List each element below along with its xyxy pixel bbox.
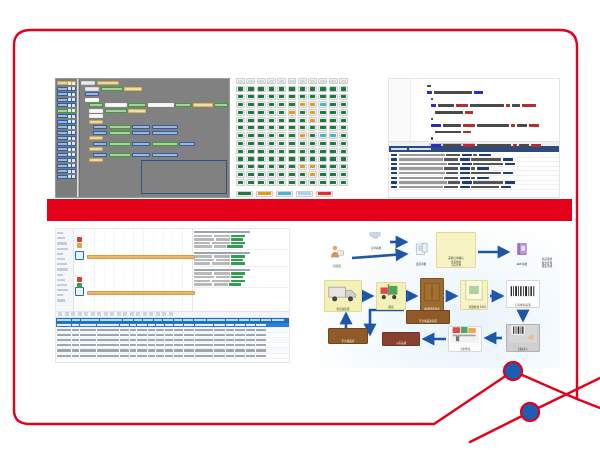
canvas-block-0-0[interactable] — [81, 81, 95, 85]
canvas-block-6-0[interactable] — [89, 114, 103, 118]
column-header-11[interactable] — [194, 319, 206, 321]
code-line-1[interactable] — [415, 91, 555, 95]
canvas-block-4-0[interactable] — [89, 103, 103, 107]
status-cell-r9-c4[interactable] — [277, 148, 286, 154]
flow-node-storage-complete[interactable]: 入库完成 — [382, 332, 420, 346]
status-cell-r11-c6[interactable] — [298, 164, 307, 170]
status-cell-r6-c2[interactable] — [257, 125, 266, 131]
toolbar-icon-17[interactable] — [169, 312, 173, 316]
status-cell-r10-c0[interactable] — [236, 156, 245, 162]
canvas-block-10-0[interactable] — [89, 136, 103, 140]
gantt-milestone-node-1[interactable] — [75, 287, 84, 296]
status-cell-r7-c10[interactable] — [339, 132, 348, 138]
canvas-block-7-0[interactable] — [89, 120, 103, 124]
status-cell-r13-c1[interactable] — [246, 179, 255, 185]
toolbar-icon-15[interactable] — [156, 312, 160, 316]
gantt-table-panel[interactable] — [55, 228, 290, 363]
palette-block-4[interactable] — [57, 103, 76, 107]
palette-block-17[interactable] — [57, 175, 76, 179]
canvas-block-3-0[interactable] — [85, 98, 99, 102]
palette-block-10[interactable] — [57, 136, 76, 140]
status-cell-r4-c4[interactable] — [277, 109, 286, 115]
status-cell-r10-c1[interactable] — [246, 156, 255, 162]
flow-node-notice-panel[interactable]: 采购订单确认 送货预约 入库计划 — [436, 232, 476, 268]
palette-block-8[interactable] — [57, 125, 76, 129]
status-cell-r5-c5[interactable] — [288, 117, 297, 123]
status-cell-r3-c9[interactable] — [329, 101, 338, 107]
status-cell-r8-c3[interactable] — [267, 140, 276, 146]
canvas-block-row-12[interactable] — [89, 147, 228, 151]
status-cell-r11-c2[interactable] — [257, 164, 266, 170]
flow-node-erp-links[interactable]: 库存更新 账务处理 报表生成 — [536, 240, 558, 268]
status-cell-r0-c7[interactable] — [308, 78, 317, 84]
toolbar-icon-2[interactable] — [71, 312, 75, 316]
gantt-row-labels[interactable] — [56, 229, 74, 311]
canvas-block-4-3[interactable] — [148, 103, 174, 107]
canvas-block-11-2[interactable] — [132, 142, 150, 146]
status-cell-r13-c3[interactable] — [267, 179, 276, 185]
canvas-block-11-0[interactable] — [93, 142, 107, 146]
status-cell-r9-c0[interactable] — [236, 148, 245, 154]
status-cell-r3-c1[interactable] — [246, 101, 255, 107]
status-cell-r0-c5[interactable] — [288, 78, 297, 84]
palette-block-3[interactable] — [57, 98, 76, 102]
status-cell-r6-c10[interactable] — [339, 125, 348, 131]
canvas-block-8-3[interactable] — [152, 125, 178, 129]
status-cell-r7-c6[interactable] — [298, 132, 307, 138]
palette-block-5[interactable] — [57, 109, 76, 113]
status-cell-r8-c9[interactable] — [329, 140, 338, 146]
status-cell-r10-c6[interactable] — [298, 156, 307, 162]
code-line-8[interactable] — [415, 137, 555, 141]
status-grid-panel[interactable] — [236, 78, 348, 198]
status-cell-r9-c6[interactable] — [298, 148, 307, 154]
status-cell-r5-c7[interactable] — [308, 117, 317, 123]
status-cell-r9-c10[interactable] — [339, 148, 348, 154]
status-cell-r3-c6[interactable] — [298, 101, 307, 107]
status-cell-r7-c9[interactable] — [329, 132, 338, 138]
flow-node-order-system[interactable]: 订单系统 — [364, 232, 388, 250]
status-cell-r3-c3[interactable] — [267, 101, 276, 107]
status-cell-r12-c5[interactable] — [288, 171, 297, 177]
palette-block-1[interactable] — [57, 87, 76, 91]
canvas-block-5-2[interactable] — [128, 109, 146, 113]
status-cell-r8-c0[interactable] — [236, 140, 245, 146]
status-cell-r5-c2[interactable] — [257, 117, 266, 123]
status-cell-r3-c2[interactable] — [257, 101, 266, 107]
column-header-3[interactable] — [100, 319, 122, 321]
status-cell-r7-c7[interactable] — [308, 132, 317, 138]
data-grid[interactable] — [56, 311, 289, 363]
status-cell-r0-c9[interactable] — [329, 78, 338, 84]
code-lines[interactable] — [415, 84, 555, 147]
canvas-block-13-1[interactable] — [109, 153, 131, 157]
canvas-block-row-5[interactable] — [89, 109, 228, 113]
status-cell-r9-c7[interactable] — [308, 148, 317, 154]
column-header-6[interactable] — [143, 319, 153, 321]
canvas-block-8-0[interactable] — [93, 125, 107, 129]
column-header-10[interactable] — [183, 319, 193, 321]
canvas-block-11-1[interactable] — [109, 142, 131, 146]
status-grid[interactable] — [236, 78, 348, 186]
status-cell-r5-c4[interactable] — [277, 117, 286, 123]
canvas-block-9-3[interactable] — [152, 131, 178, 135]
status-cell-r3-c5[interactable] — [288, 101, 297, 107]
flow-node-putaway[interactable]: 上架作业 — [448, 326, 482, 352]
toolbar-icon-1[interactable] — [65, 312, 69, 316]
status-cell-r8-c4[interactable] — [277, 140, 286, 146]
palette-block-11[interactable] — [57, 142, 76, 146]
flow-node-scan-in[interactable]: 扫描录入 — [506, 324, 540, 352]
status-cell-r6-c8[interactable] — [318, 125, 327, 131]
status-cell-r10-c7[interactable] — [308, 156, 317, 162]
status-cell-r2-c9[interactable] — [329, 94, 338, 100]
status-cell-r2-c6[interactable] — [298, 94, 307, 100]
palette-block-16[interactable] — [57, 169, 76, 173]
canvas-block-13-0[interactable] — [93, 153, 107, 157]
toolbar-icon-11[interactable] — [130, 312, 134, 316]
status-cell-r6-c6[interactable] — [298, 125, 307, 131]
status-cell-r10-c4[interactable] — [277, 156, 286, 162]
canvas-block-2-0[interactable] — [85, 92, 99, 96]
status-cell-r8-c5[interactable] — [288, 140, 297, 146]
status-cell-r8-c7[interactable] — [308, 140, 317, 146]
palette-block-6[interactable] — [57, 114, 76, 118]
canvas-block-row-3[interactable] — [85, 98, 228, 102]
status-cell-r2-c1[interactable] — [246, 94, 255, 100]
status-cell-r5-c8[interactable] — [318, 117, 327, 123]
canvas-block-row-2[interactable] — [85, 92, 228, 96]
column-header-15[interactable] — [250, 319, 260, 321]
toolbar-icon-16[interactable] — [162, 312, 166, 316]
status-cell-r6-c7[interactable] — [308, 125, 317, 131]
status-cell-r4-c5[interactable] — [288, 109, 297, 115]
status-cell-r13-c10[interactable] — [339, 179, 348, 185]
status-cell-r1-c0[interactable] — [236, 86, 245, 92]
status-cell-r11-c10[interactable] — [339, 164, 348, 170]
toolbar-icon-3[interactable] — [78, 312, 82, 316]
status-cell-r1-c7[interactable] — [308, 86, 317, 92]
gantt-milestone-rail[interactable] — [74, 229, 85, 311]
status-cell-r0-c0[interactable] — [236, 78, 245, 84]
toolbar-icon-12[interactable] — [136, 312, 140, 316]
status-cell-r13-c4[interactable] — [277, 179, 286, 185]
gantt-note-group-2[interactable] — [194, 269, 288, 288]
status-cell-r1-c3[interactable] — [267, 86, 276, 92]
status-cell-r3-c0[interactable] — [236, 101, 245, 107]
status-cell-r10-c10[interactable] — [339, 156, 348, 162]
status-cell-r9-c3[interactable] — [267, 148, 276, 154]
status-cell-r10-c2[interactable] — [257, 156, 266, 162]
status-cell-r5-c6[interactable] — [298, 117, 307, 123]
status-cell-r13-c0[interactable] — [236, 179, 245, 185]
status-cell-r6-c3[interactable] — [267, 125, 276, 131]
code-line-4[interactable] — [415, 110, 555, 114]
column-header-12[interactable] — [207, 319, 225, 321]
status-cell-r5-c10[interactable] — [339, 117, 348, 123]
column-header-7[interactable] — [154, 319, 162, 321]
canvas-block-row-9[interactable] — [93, 131, 228, 135]
column-header-2[interactable] — [81, 319, 99, 321]
blocks-canvas[interactable] — [80, 79, 229, 197]
status-cell-r6-c0[interactable] — [236, 125, 245, 131]
code-line-0[interactable] — [415, 84, 555, 88]
status-cell-r7-c1[interactable] — [246, 132, 255, 138]
status-cell-r0-c8[interactable] — [318, 78, 327, 84]
flow-node-nonconform-return[interactable]: 不合格品库 — [328, 328, 368, 344]
canvas-block-row-8[interactable] — [93, 125, 228, 129]
status-cell-r4-c6[interactable] — [298, 109, 307, 115]
canvas-block-14-0[interactable] — [89, 158, 103, 162]
status-cell-r1-c1[interactable] — [246, 86, 255, 92]
column-header-13[interactable] — [226, 319, 238, 321]
canvas-block-row-1[interactable] — [85, 87, 228, 91]
status-cell-r5-c0[interactable] — [236, 117, 245, 123]
canvas-block-row-13[interactable] — [93, 153, 228, 157]
status-cell-r1-c9[interactable] — [329, 86, 338, 92]
palette-block-9[interactable] — [57, 131, 76, 135]
canvas-block-row-11[interactable] — [93, 142, 228, 146]
status-cell-r7-c3[interactable] — [267, 132, 276, 138]
flow-diagram-panel[interactable]: 供应商订单系统送货单据采购订单确认 送货预约 入库计划ERP系统库存更新 账务处… — [320, 228, 560, 368]
status-cell-r4-c2[interactable] — [257, 109, 266, 115]
status-cell-r4-c0[interactable] — [236, 109, 245, 115]
status-cell-r11-c5[interactable] — [288, 164, 297, 170]
status-cell-r8-c1[interactable] — [246, 140, 255, 146]
status-cell-r7-c5[interactable] — [288, 132, 297, 138]
status-cell-r2-c0[interactable] — [236, 94, 245, 100]
status-cell-r8-c10[interactable] — [339, 140, 348, 146]
status-cell-r8-c2[interactable] — [257, 140, 266, 146]
status-cell-r11-c1[interactable] — [246, 164, 255, 170]
column-header-8[interactable] — [163, 319, 173, 321]
code-editor-panel[interactable] — [388, 78, 560, 198]
code-line-3[interactable] — [415, 104, 555, 108]
status-cell-r1-c4[interactable] — [277, 86, 286, 92]
toolbar-icon-4[interactable] — [84, 312, 88, 316]
flow-node-asn-documents[interactable]: 送货单据 — [410, 240, 432, 266]
status-cell-r9-c1[interactable] — [246, 148, 255, 154]
status-cell-r3-c4[interactable] — [277, 101, 286, 107]
status-cell-r8-c6[interactable] — [298, 140, 307, 146]
status-cell-r3-c8[interactable] — [318, 101, 327, 107]
column-header-0[interactable] — [57, 319, 71, 321]
status-cell-r6-c1[interactable] — [246, 125, 255, 131]
status-cell-r0-c3[interactable] — [267, 78, 276, 84]
gantt-bar-1[interactable] — [87, 291, 195, 295]
status-cell-r4-c10[interactable] — [339, 109, 348, 115]
table-row[interactable] — [56, 354, 289, 359]
canvas-block-13-2[interactable] — [132, 153, 150, 157]
canvas-block-row-0[interactable] — [81, 81, 228, 85]
status-cell-r2-c2[interactable] — [257, 94, 266, 100]
canvas-block-row-7[interactable] — [89, 120, 228, 124]
status-cell-r2-c8[interactable] — [318, 94, 327, 100]
canvas-block-8-1[interactable] — [109, 125, 131, 129]
status-cell-r12-c7[interactable] — [308, 171, 317, 177]
status-cell-r9-c8[interactable] — [318, 148, 327, 154]
toolbar-icon-5[interactable] — [91, 312, 95, 316]
flow-node-receiving-check[interactable]: 收货理货作业 — [420, 278, 444, 312]
palette-block-7[interactable] — [57, 120, 76, 124]
toolbar-icon-14[interactable] — [149, 312, 153, 316]
code-text-area[interactable] — [389, 79, 559, 141]
column-header-9[interactable] — [174, 319, 182, 321]
canvas-block-4-4[interactable] — [175, 103, 191, 107]
palette-block-14[interactable] — [57, 158, 76, 162]
status-cell-r9-c2[interactable] — [257, 148, 266, 154]
status-cell-r4-c1[interactable] — [246, 109, 255, 115]
status-cell-r7-c0[interactable] — [236, 132, 245, 138]
status-cell-r13-c5[interactable] — [288, 179, 297, 185]
gantt-chart-grid[interactable] — [85, 229, 193, 311]
flow-node-unloading[interactable]: 卸货 — [376, 282, 406, 310]
code-line-2[interactable] — [415, 97, 555, 101]
column-header-14[interactable] — [239, 319, 249, 321]
canvas-block-9-2[interactable] — [132, 131, 150, 135]
status-cell-r2-c10[interactable] — [339, 94, 348, 100]
canvas-block-9-1[interactable] — [109, 131, 131, 135]
canvas-block-4-5[interactable] — [193, 103, 213, 107]
status-cell-r12-c4[interactable] — [277, 171, 286, 177]
toolbar-icon-0[interactable] — [58, 312, 62, 316]
status-cell-r5-c1[interactable] — [246, 117, 255, 123]
status-cell-r10-c3[interactable] — [267, 156, 276, 162]
gantt-note-group-0[interactable] — [194, 231, 288, 250]
column-header-5[interactable] — [134, 319, 142, 321]
gantt-bar-0[interactable] — [87, 255, 195, 259]
canvas-block-5-1[interactable] — [105, 109, 127, 113]
status-cell-r2-c3[interactable] — [267, 94, 276, 100]
status-cell-r1-c5[interactable] — [288, 86, 297, 92]
flow-node-nonconform-area[interactable]: 不合格品暂存区 — [406, 310, 450, 324]
status-cell-r1-c8[interactable] — [318, 86, 327, 92]
status-cell-r12-c10[interactable] — [339, 171, 348, 177]
status-cell-r13-c8[interactable] — [318, 179, 327, 185]
canvas-block-1-2[interactable] — [124, 87, 142, 91]
gantt-note-group-1[interactable] — [194, 252, 288, 268]
data-grid-rows[interactable] — [56, 323, 289, 359]
status-cell-r11-c8[interactable] — [318, 164, 327, 170]
canvas-block-13-3[interactable] — [152, 153, 178, 157]
status-cell-r0-c2[interactable] — [257, 78, 266, 84]
status-cell-r1-c10[interactable] — [339, 86, 348, 92]
status-cell-r4-c7[interactable] — [308, 109, 317, 115]
status-cell-r11-c4[interactable] — [277, 164, 286, 170]
log-row-7[interactable] — [389, 185, 559, 190]
status-cell-r10-c9[interactable] — [329, 156, 338, 162]
status-cell-r3-c10[interactable] — [339, 101, 348, 107]
status-cell-r12-c3[interactable] — [267, 171, 276, 177]
column-header-1[interactable] — [72, 319, 80, 321]
status-cell-r0-c10[interactable] — [339, 78, 348, 84]
toolbar-icon-8[interactable] — [110, 312, 114, 316]
canvas-block-row-10[interactable] — [89, 136, 228, 140]
status-cell-r13-c2[interactable] — [257, 179, 266, 185]
status-cell-r7-c4[interactable] — [277, 132, 286, 138]
blocks-palette[interactable] — [56, 79, 77, 197]
status-cell-r12-c0[interactable] — [236, 171, 245, 177]
status-cell-r6-c4[interactable] — [277, 125, 286, 131]
status-cell-r6-c5[interactable] — [288, 125, 297, 131]
flow-node-supplier-clerk[interactable]: 供应商 — [324, 246, 350, 268]
palette-block-0[interactable] — [57, 81, 76, 85]
status-cell-r11-c3[interactable] — [267, 164, 276, 170]
canvas-block-5-0[interactable] — [89, 109, 103, 113]
status-cell-r13-c6[interactable] — [298, 179, 307, 185]
code-line-7[interactable] — [415, 130, 555, 134]
status-cell-r8-c8[interactable] — [318, 140, 327, 146]
palette-block-13[interactable] — [57, 153, 76, 157]
code-line-5[interactable] — [415, 117, 555, 121]
log-rows-container[interactable] — [389, 152, 559, 190]
code-line-6[interactable] — [415, 124, 555, 128]
flow-node-delivery-truck[interactable]: 供应商送货 — [324, 280, 362, 312]
canvas-block-12-0[interactable] — [89, 147, 103, 151]
toolbar-icon-13[interactable] — [143, 312, 147, 316]
status-cell-r2-c4[interactable] — [277, 94, 286, 100]
status-cell-r11-c7[interactable] — [308, 164, 317, 170]
status-cell-r10-c8[interactable] — [318, 156, 327, 162]
palette-block-2[interactable] — [57, 92, 76, 96]
code-line-9[interactable] — [415, 143, 555, 147]
palette-block-15[interactable] — [57, 164, 76, 168]
status-cell-r7-c8[interactable] — [318, 132, 327, 138]
canvas-block-1-1[interactable] — [101, 87, 123, 91]
status-cell-r5-c9[interactable] — [329, 117, 338, 123]
canvas-block-row-4[interactable] — [89, 103, 228, 107]
gantt-notes-column[interactable] — [193, 229, 289, 311]
toolbar-icon-10[interactable] — [123, 312, 127, 316]
flow-node-erp-system[interactable]: ERP系统 — [512, 242, 532, 266]
status-cell-r11-c9[interactable] — [329, 164, 338, 170]
status-cell-r4-c8[interactable] — [318, 109, 327, 115]
flow-node-barcode-label[interactable]: 打印条码标签 — [506, 280, 540, 308]
status-cell-r12-c9[interactable] — [329, 171, 338, 177]
status-cell-r0-c6[interactable] — [298, 78, 307, 84]
canvas-block-row-6[interactable] — [89, 114, 228, 118]
toolbar-icon-9[interactable] — [117, 312, 121, 316]
toolbar-icon-6[interactable] — [97, 312, 101, 316]
status-cell-r6-c9[interactable] — [329, 125, 338, 131]
status-cell-r2-c7[interactable] — [308, 94, 317, 100]
canvas-block-9-0[interactable] — [93, 131, 107, 135]
status-cell-r13-c9[interactable] — [329, 179, 338, 185]
palette-block-12[interactable] — [57, 147, 76, 151]
status-cell-r9-c5[interactable] — [288, 148, 297, 154]
blocks-editor-panel[interactable] — [55, 78, 230, 198]
status-cell-r12-c2[interactable] — [257, 171, 266, 177]
canvas-block-4-6[interactable] — [214, 103, 228, 107]
status-cell-r0-c4[interactable] — [277, 78, 286, 84]
status-cell-r10-c5[interactable] — [288, 156, 297, 162]
canvas-block-11-3[interactable] — [152, 142, 178, 146]
status-cell-r11-c0[interactable] — [236, 164, 245, 170]
status-cell-r12-c6[interactable] — [298, 171, 307, 177]
column-header-16[interactable] — [261, 319, 271, 321]
status-cell-r1-c6[interactable] — [298, 86, 307, 92]
status-cell-r5-c3[interactable] — [267, 117, 276, 123]
status-cell-r9-c9[interactable] — [329, 148, 338, 154]
gantt-upper-area[interactable] — [56, 229, 289, 311]
toolbar-icon-7[interactable] — [104, 312, 108, 316]
canvas-block-1-0[interactable] — [85, 87, 99, 91]
canvas-block-11-4[interactable] — [179, 142, 195, 146]
status-cell-r12-c1[interactable] — [246, 171, 255, 177]
status-cell-r1-c2[interactable] — [257, 86, 266, 92]
canvas-block-4-2[interactable] — [128, 103, 146, 107]
status-cell-r12-c8[interactable] — [318, 171, 327, 177]
